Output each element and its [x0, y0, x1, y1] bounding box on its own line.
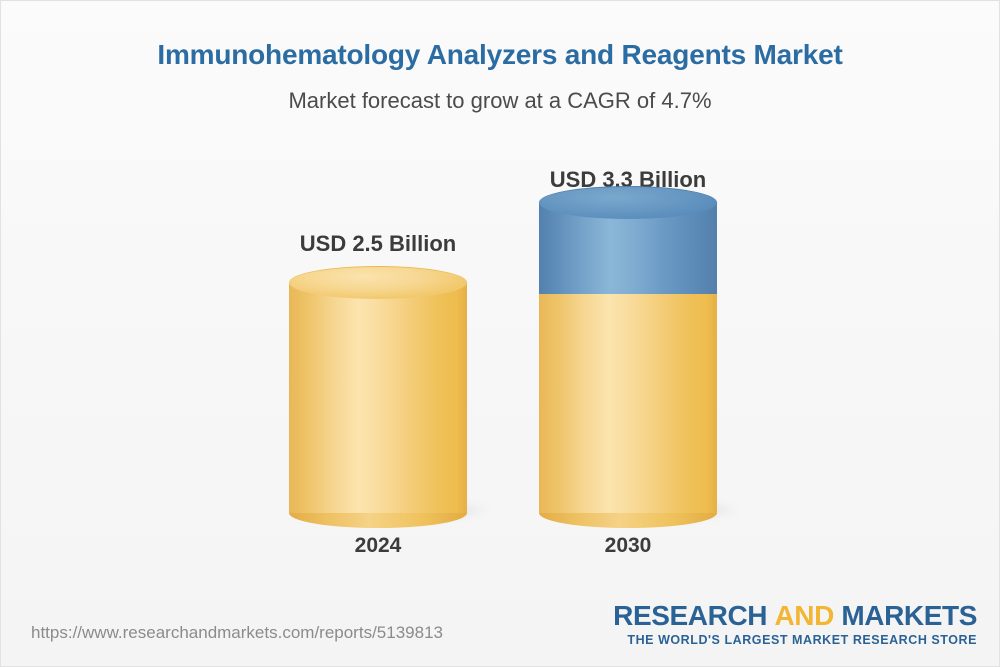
bar-value-label-2024: USD 2.5 Billion [300, 231, 456, 257]
research-and-markets-logo[interactable]: RESEARCH AND MARKETS THE WORLD'S LARGEST… [613, 601, 977, 647]
chart-plot-area: USD 2.5 Billion 2024 USD 3.3 Billion [1, 1, 1000, 667]
bar-body-2030-base [539, 294, 717, 513]
logo-word-markets: MARKETS [841, 600, 977, 631]
logo-word-research: RESEARCH [613, 600, 767, 631]
bar-group-2024: USD 2.5 Billion 2024 [289, 231, 467, 531]
logo-wordmark: RESEARCH AND MARKETS [613, 601, 977, 630]
bar-top-ellipse-2024 [289, 266, 467, 299]
logo-word-and: AND [774, 600, 833, 631]
bar-top-ellipse-2030 [539, 186, 717, 219]
logo-tagline: THE WORLD'S LARGEST MARKET RESEARCH STOR… [613, 633, 977, 647]
source-url[interactable]: https://www.researchandmarkets.com/repor… [31, 623, 443, 643]
infographic-canvas: Immunohematology Analyzers and Reagents … [0, 0, 1000, 667]
bar-segment-2024-base [289, 282, 467, 513]
bar-body-2024 [289, 282, 467, 513]
bar-category-label-2030: 2030 [605, 534, 652, 558]
bar-segment-2030-base [539, 294, 717, 513]
bar-group-2030: USD 3.3 Billion 2030 [539, 151, 717, 531]
bar-segment-2030-growth [539, 202, 717, 294]
bar-category-label-2024: 2024 [355, 534, 402, 558]
